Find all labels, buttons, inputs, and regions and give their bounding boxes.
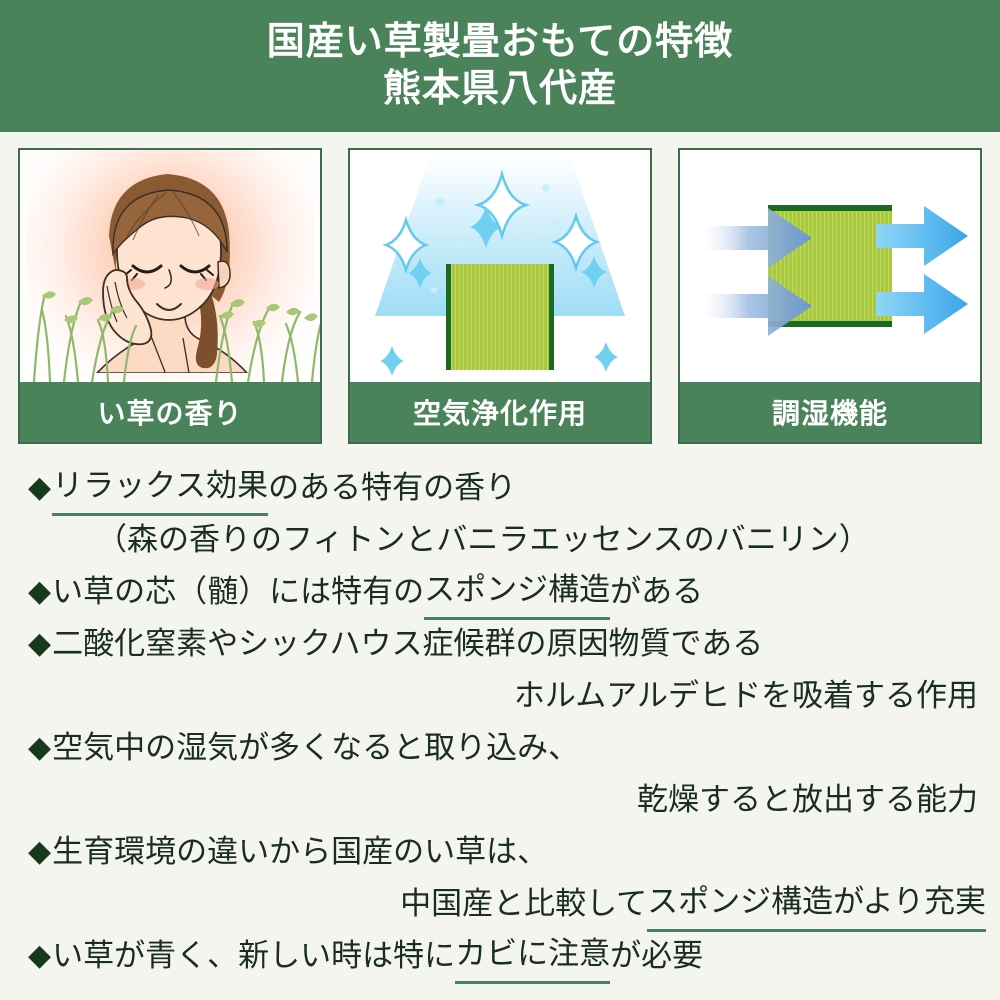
bullet-text: 乾燥すると放出する能力 xyxy=(637,774,978,826)
bullet-diamond-icon: ◆ xyxy=(28,618,51,670)
feature-card-humidity-control: 調湿機能 xyxy=(678,148,982,444)
page-title-line-1: 国産い草製畳おもての特徴 xyxy=(267,20,733,65)
bullet-line: ◆生育環境の違いから国産のい草は、 xyxy=(0,826,1000,878)
bullet-text: 中国産と比較して xyxy=(400,878,647,930)
bullet-continuation-line: 乾燥すると放出する能力 xyxy=(0,774,1000,826)
bullet-line: ◆空気中の湿気が多くなると取り込み、 xyxy=(0,722,1000,774)
bullet-text: （森の香りのフィトンとバニラエッセンスのバニリン） xyxy=(96,514,870,566)
feature-card-aroma: い草の香り xyxy=(18,148,322,444)
highlighted-term: リラックス効果 xyxy=(52,460,268,516)
bullet-diamond-icon: ◆ xyxy=(28,826,51,878)
tatami-mat-with-moisture-arrows-illustration xyxy=(680,150,980,382)
bullet-text: い草の芯（髄）には特有の xyxy=(52,566,424,618)
woman-relaxing-with-igusa-grass-illustration xyxy=(20,150,320,382)
igusa-grass-icon xyxy=(20,252,320,382)
card-label-air-purification: 空気浄化作用 xyxy=(350,382,650,442)
page-header: 国産い草製畳おもての特徴 熊本県八代産 xyxy=(0,0,1000,132)
tatami-mat-emitting-sparkling-air-illustration xyxy=(350,150,650,382)
feature-card-air-purification: 空気浄化作用 xyxy=(348,148,652,444)
bullet-text: がある xyxy=(610,566,703,618)
bullet-diamond-icon: ◆ xyxy=(28,462,51,514)
feature-bullet-list: ◆リラックス効果のある特有の香り（森の香りのフィトンとバニラエッセンスのバニリン… xyxy=(0,462,1000,982)
bullet-text: い草が青く、新しい時は特に xyxy=(52,930,455,982)
bullet-line: ◆リラックス効果のある特有の香り xyxy=(0,462,1000,514)
bullet-diamond-icon: ◆ xyxy=(28,722,51,774)
bullet-continuation-line: 中国産と比較してスポンジ構造がより充実 xyxy=(0,878,1000,930)
tatami-mat-vertical-icon xyxy=(446,264,554,370)
highlighted-term: スポンジ構造 xyxy=(424,564,610,620)
infographic-page: 国産い草製畳おもての特徴 熊本県八代産 xyxy=(0,0,1000,1000)
bullet-line: ◆二酸化窒素やシックハウス症候群の原因物質である xyxy=(0,618,1000,670)
highlighted-term: スポンジ構造がより充実 xyxy=(647,876,986,932)
card-label-humidity-control: 調湿機能 xyxy=(680,382,980,442)
moisture-flow-arrows-icon xyxy=(680,150,980,382)
bullet-text: ホルムアルデヒドを吸着する作用 xyxy=(514,670,978,722)
page-title-line-2: 熊本県八代産 xyxy=(383,67,617,112)
bullet-text: 空気中の湿気が多くなると取り込み、 xyxy=(52,722,579,774)
bullet-line: ◆い草が青く、新しい時は特にカビに注意が必要 xyxy=(0,930,1000,982)
bullet-continuation-line: ホルムアルデヒドを吸着する作用 xyxy=(0,670,1000,722)
card-label-aroma: い草の香り xyxy=(20,382,320,442)
feature-card-row: い草の香り xyxy=(18,148,982,444)
bullet-diamond-icon: ◆ xyxy=(28,566,51,618)
bullet-text: 生育環境の違いから国産のい草は、 xyxy=(52,826,548,878)
bullet-diamond-icon: ◆ xyxy=(28,930,51,982)
bullet-text: が必要 xyxy=(610,930,703,982)
bullet-text: のある特有の香り xyxy=(268,462,516,514)
bullet-line: ◆い草の芯（髄）には特有のスポンジ構造がある xyxy=(0,566,1000,618)
bullet-text: 二酸化窒素やシックハウス症候群の原因物質である xyxy=(52,618,763,670)
highlighted-term: カビに注意 xyxy=(455,928,610,984)
bullet-continuation-line: （森の香りのフィトンとバニラエッセンスのバニリン） xyxy=(0,514,1000,566)
